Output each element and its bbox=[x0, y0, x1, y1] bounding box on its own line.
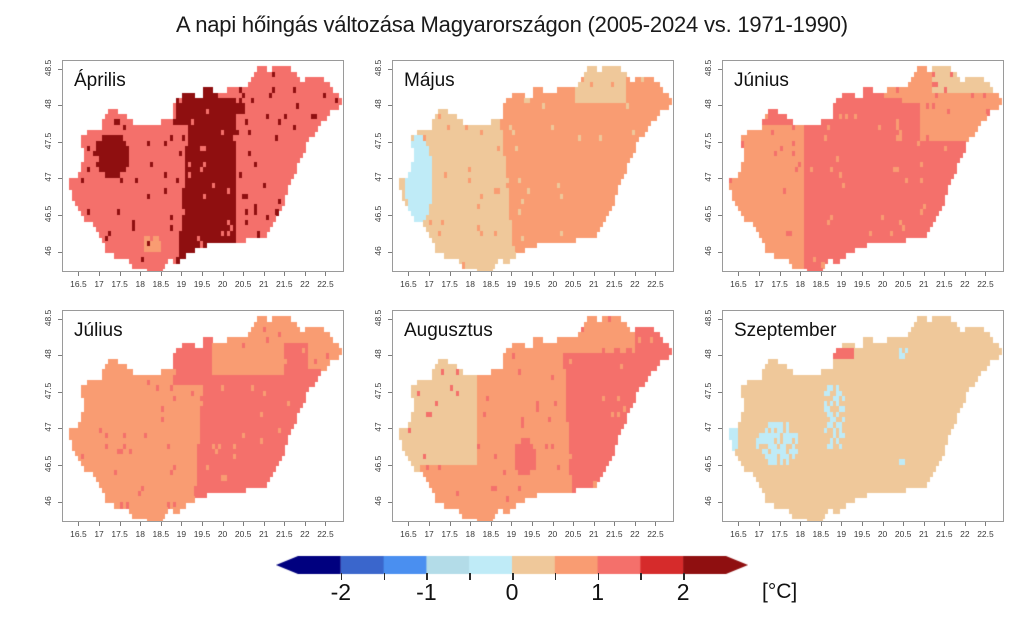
y-tick-mark bbox=[718, 252, 722, 253]
x-tick-mark bbox=[408, 522, 409, 526]
page-title: A napi hőingás változása Magyarországon … bbox=[0, 12, 1024, 38]
x-tick-mark bbox=[140, 522, 141, 526]
y-tick-label: 47.5 bbox=[373, 379, 383, 403]
panel-title: Április bbox=[74, 70, 126, 92]
y-tick-mark bbox=[718, 392, 722, 393]
colorbar-tick-label: 2 bbox=[653, 579, 713, 606]
y-tick-mark bbox=[58, 465, 62, 466]
y-tick-mark bbox=[718, 142, 722, 143]
y-tick-label: 46.5 bbox=[373, 452, 383, 476]
panel-aprilis: Április16.51717.51818.51919.52020.52121.… bbox=[24, 52, 354, 298]
x-tick-mark bbox=[120, 522, 121, 526]
x-tick-mark bbox=[120, 272, 121, 276]
x-tick-mark bbox=[243, 272, 244, 276]
x-tick-mark bbox=[491, 272, 492, 276]
colorbar-tick-label: -1 bbox=[396, 579, 456, 606]
x-tick-mark bbox=[511, 272, 512, 276]
x-tick-mark bbox=[944, 272, 945, 276]
x-tick-mark bbox=[305, 522, 306, 526]
y-tick-label: 48.5 bbox=[373, 56, 383, 80]
y-tick-mark bbox=[58, 355, 62, 356]
y-tick-mark bbox=[388, 215, 392, 216]
x-tick-label: 22.5 bbox=[305, 529, 345, 539]
heatmap-raster bbox=[723, 311, 1004, 522]
panel-augusztus: Augusztus16.51717.51818.51919.52020.5212… bbox=[354, 302, 684, 548]
y-tick-label: 46 bbox=[373, 239, 383, 263]
panel-title: Július bbox=[74, 320, 123, 342]
y-tick-label: 46.5 bbox=[43, 202, 53, 226]
y-tick-mark bbox=[388, 178, 392, 179]
x-tick-mark bbox=[841, 522, 842, 526]
y-tick-mark bbox=[388, 502, 392, 503]
x-tick-mark bbox=[470, 272, 471, 276]
y-tick-label: 47 bbox=[703, 165, 713, 189]
y-tick-mark bbox=[58, 105, 62, 106]
y-tick-label: 47 bbox=[43, 415, 53, 439]
y-tick-label: 46 bbox=[703, 489, 713, 513]
x-tick-mark bbox=[223, 272, 224, 276]
x-tick-mark bbox=[594, 272, 595, 276]
y-tick-label: 48.5 bbox=[43, 56, 53, 80]
x-tick-mark bbox=[903, 522, 904, 526]
y-tick-mark bbox=[388, 355, 392, 356]
y-tick-label: 47.5 bbox=[373, 129, 383, 153]
y-tick-label: 48 bbox=[43, 342, 53, 366]
y-tick-mark bbox=[388, 428, 392, 429]
x-tick-label: 22.5 bbox=[305, 279, 345, 289]
y-tick-mark bbox=[58, 428, 62, 429]
y-tick-mark bbox=[388, 465, 392, 466]
y-tick-mark bbox=[718, 355, 722, 356]
x-tick-mark bbox=[985, 272, 986, 276]
x-tick-mark bbox=[161, 272, 162, 276]
x-tick-mark bbox=[532, 522, 533, 526]
y-tick-label: 47 bbox=[703, 415, 713, 439]
colorbar-tick bbox=[384, 573, 386, 580]
x-tick-mark bbox=[821, 272, 822, 276]
y-tick-label: 48 bbox=[373, 342, 383, 366]
x-tick-mark bbox=[305, 272, 306, 276]
y-tick-mark bbox=[388, 319, 392, 320]
y-tick-label: 46.5 bbox=[703, 452, 713, 476]
x-tick-mark bbox=[223, 522, 224, 526]
y-tick-mark bbox=[718, 69, 722, 70]
x-tick-mark bbox=[985, 522, 986, 526]
x-tick-mark bbox=[264, 272, 265, 276]
y-tick-mark bbox=[718, 105, 722, 106]
y-tick-mark bbox=[388, 69, 392, 70]
y-tick-mark bbox=[58, 392, 62, 393]
y-tick-label: 47.5 bbox=[43, 129, 53, 153]
x-tick-label: 22.5 bbox=[635, 529, 675, 539]
x-tick-mark bbox=[202, 522, 203, 526]
x-tick-label: 22.5 bbox=[635, 279, 675, 289]
y-tick-label: 46 bbox=[373, 489, 383, 513]
y-tick-label: 47 bbox=[373, 165, 383, 189]
heatmap-raster bbox=[393, 61, 674, 272]
x-tick-mark bbox=[202, 272, 203, 276]
x-tick-mark bbox=[655, 272, 656, 276]
y-tick-mark bbox=[388, 392, 392, 393]
y-tick-mark bbox=[718, 215, 722, 216]
x-tick-mark bbox=[532, 272, 533, 276]
x-tick-mark bbox=[511, 522, 512, 526]
x-tick-mark bbox=[78, 522, 79, 526]
y-tick-mark bbox=[388, 142, 392, 143]
x-tick-mark bbox=[800, 272, 801, 276]
x-tick-mark bbox=[841, 272, 842, 276]
panel-title: Szeptember bbox=[734, 320, 836, 342]
y-tick-mark bbox=[58, 502, 62, 503]
x-tick-mark bbox=[944, 522, 945, 526]
x-tick-mark bbox=[284, 272, 285, 276]
y-tick-label: 46 bbox=[703, 239, 713, 263]
y-tick-label: 46.5 bbox=[43, 452, 53, 476]
x-tick-label: 22.5 bbox=[965, 279, 1005, 289]
x-tick-mark bbox=[655, 522, 656, 526]
y-tick-label: 47.5 bbox=[43, 379, 53, 403]
panel-title: Augusztus bbox=[404, 320, 493, 342]
colorbar-tick-label: 0 bbox=[482, 579, 542, 606]
x-tick-mark bbox=[429, 272, 430, 276]
x-tick-mark bbox=[883, 522, 884, 526]
y-tick-mark bbox=[58, 215, 62, 216]
x-tick-mark bbox=[325, 522, 326, 526]
panel-julius: Július16.51717.51818.51919.52020.52121.5… bbox=[24, 302, 354, 548]
x-tick-mark bbox=[924, 272, 925, 276]
y-tick-label: 48 bbox=[373, 92, 383, 116]
x-tick-mark bbox=[140, 272, 141, 276]
y-tick-mark bbox=[718, 178, 722, 179]
y-tick-label: 46.5 bbox=[373, 202, 383, 226]
x-tick-mark bbox=[883, 272, 884, 276]
figure-root: A napi hőingás változása Magyarországon … bbox=[0, 0, 1024, 638]
x-tick-mark bbox=[862, 522, 863, 526]
panel-title: Május bbox=[404, 70, 455, 92]
y-tick-mark bbox=[58, 319, 62, 320]
y-tick-mark bbox=[718, 319, 722, 320]
x-tick-mark bbox=[408, 272, 409, 276]
x-tick-mark bbox=[78, 272, 79, 276]
x-tick-mark bbox=[450, 522, 451, 526]
x-tick-mark bbox=[780, 272, 781, 276]
colorbar-tick-label: -2 bbox=[311, 579, 371, 606]
x-tick-mark bbox=[573, 522, 574, 526]
heatmap-raster bbox=[63, 61, 344, 272]
colorbar-tick bbox=[640, 573, 642, 580]
panel-title: Június bbox=[734, 70, 789, 92]
y-tick-label: 47 bbox=[43, 165, 53, 189]
x-tick-mark bbox=[99, 522, 100, 526]
colorbar: -2-1012 [°C] bbox=[0, 548, 1024, 638]
x-tick-mark bbox=[965, 522, 966, 526]
heatmap-raster bbox=[723, 61, 1004, 272]
y-tick-label: 46 bbox=[43, 489, 53, 513]
y-tick-label: 48.5 bbox=[703, 56, 713, 80]
colorbar-tick bbox=[555, 573, 557, 580]
colorbar-unit-label: [°C] bbox=[762, 580, 797, 604]
x-tick-mark bbox=[450, 272, 451, 276]
y-tick-label: 47.5 bbox=[703, 129, 713, 153]
y-tick-label: 48 bbox=[43, 92, 53, 116]
x-tick-mark bbox=[284, 522, 285, 526]
x-tick-mark bbox=[759, 522, 760, 526]
x-tick-mark bbox=[800, 522, 801, 526]
x-tick-mark bbox=[181, 272, 182, 276]
x-tick-mark bbox=[594, 522, 595, 526]
heatmap-raster bbox=[63, 311, 344, 522]
x-tick-mark bbox=[161, 522, 162, 526]
y-tick-label: 48.5 bbox=[373, 306, 383, 330]
y-tick-mark bbox=[58, 252, 62, 253]
x-tick-mark bbox=[635, 272, 636, 276]
y-tick-mark bbox=[718, 502, 722, 503]
x-tick-mark bbox=[429, 522, 430, 526]
y-tick-label: 47.5 bbox=[703, 379, 713, 403]
x-tick-mark bbox=[635, 522, 636, 526]
x-tick-mark bbox=[99, 272, 100, 276]
x-tick-mark bbox=[780, 522, 781, 526]
x-tick-mark bbox=[325, 272, 326, 276]
y-tick-mark bbox=[718, 465, 722, 466]
y-tick-label: 46 bbox=[43, 239, 53, 263]
x-tick-mark bbox=[965, 272, 966, 276]
x-tick-mark bbox=[573, 272, 574, 276]
x-tick-mark bbox=[264, 522, 265, 526]
y-tick-mark bbox=[58, 69, 62, 70]
x-tick-mark bbox=[553, 272, 554, 276]
panel-junius: Június16.51717.51818.51919.52020.52121.5… bbox=[684, 52, 1014, 298]
y-tick-mark bbox=[388, 252, 392, 253]
x-tick-mark bbox=[470, 522, 471, 526]
x-tick-mark bbox=[614, 272, 615, 276]
y-tick-mark bbox=[718, 428, 722, 429]
y-tick-label: 48.5 bbox=[43, 306, 53, 330]
x-tick-mark bbox=[491, 522, 492, 526]
x-tick-mark bbox=[821, 522, 822, 526]
y-tick-label: 48 bbox=[703, 92, 713, 116]
y-tick-label: 48.5 bbox=[703, 306, 713, 330]
x-tick-mark bbox=[738, 522, 739, 526]
x-tick-mark bbox=[553, 522, 554, 526]
x-tick-mark bbox=[614, 522, 615, 526]
y-tick-label: 48 bbox=[703, 342, 713, 366]
y-tick-label: 47 bbox=[373, 415, 383, 439]
x-tick-mark bbox=[862, 272, 863, 276]
panel-majus: Május16.51717.51818.51919.52020.52121.52… bbox=[354, 52, 684, 298]
x-tick-mark bbox=[738, 272, 739, 276]
y-tick-mark bbox=[58, 142, 62, 143]
x-tick-mark bbox=[181, 522, 182, 526]
x-tick-mark bbox=[759, 272, 760, 276]
x-tick-mark bbox=[924, 522, 925, 526]
y-tick-label: 46.5 bbox=[703, 202, 713, 226]
colorbar-tick bbox=[469, 573, 471, 580]
x-tick-mark bbox=[903, 272, 904, 276]
y-tick-mark bbox=[58, 178, 62, 179]
colorbar-tick-label: 1 bbox=[568, 579, 628, 606]
panel-szeptember: Szeptember16.51717.51818.51919.52020.521… bbox=[684, 302, 1014, 548]
x-tick-mark bbox=[243, 522, 244, 526]
heatmap-raster bbox=[393, 311, 674, 522]
y-tick-mark bbox=[388, 105, 392, 106]
x-tick-label: 22.5 bbox=[965, 529, 1005, 539]
